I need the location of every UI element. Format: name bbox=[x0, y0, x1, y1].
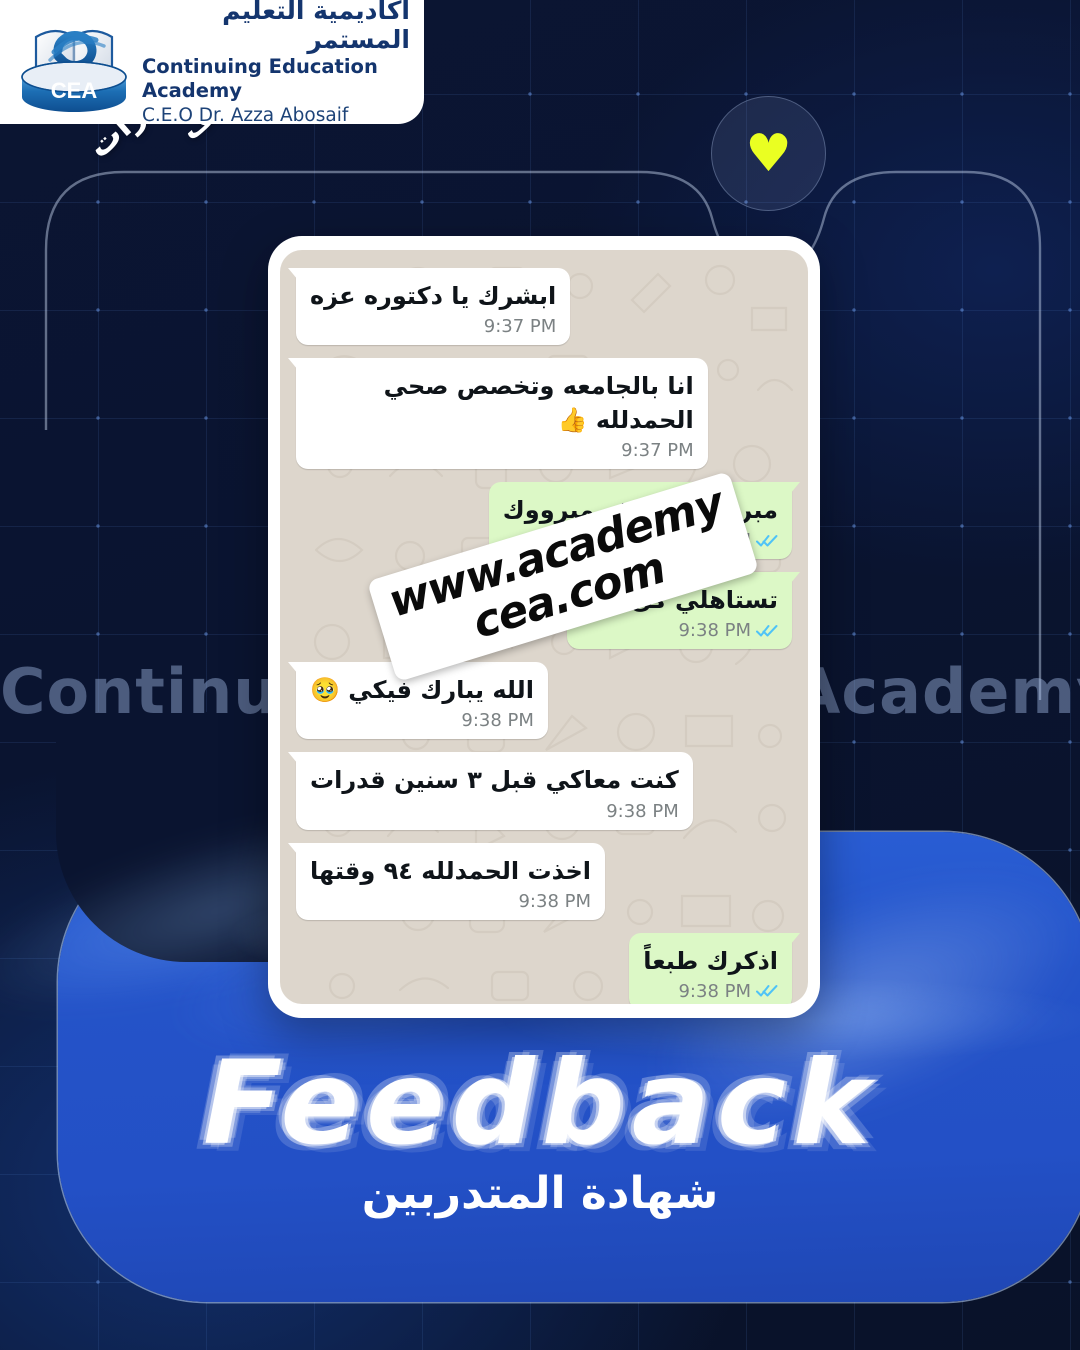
feedback-title: Feedback bbox=[0, 1046, 1080, 1162]
message-time: 9:37 PM bbox=[621, 440, 694, 461]
message-meta: 9:38 PM bbox=[310, 891, 591, 912]
message-text: انا بالجامعه وتخصص صحي الحمدلله 👍 bbox=[310, 369, 694, 437]
footer-title-block: Feedback شهادة المتدربين bbox=[0, 1046, 1080, 1219]
message-meta: 9:38 PM bbox=[643, 981, 778, 1002]
message-time: 9:38 PM bbox=[678, 620, 751, 641]
message-row: اخذت الحمدلله ٩٤ وقتها 9:38 PM bbox=[296, 843, 792, 920]
read-receipt-double-check-icon bbox=[756, 534, 778, 548]
heart-badge: ♥ bbox=[711, 96, 826, 211]
message-time: 9:38 PM bbox=[606, 801, 679, 822]
chat-bubble-incoming[interactable]: اخذت الحمدلله ٩٤ وقتها 9:38 PM bbox=[296, 843, 605, 920]
message-row: الله يبارك فيكي 🥹 9:38 PM bbox=[296, 662, 792, 739]
message-row: ابشرك يا دكتوره عزه 9:37 PM bbox=[296, 268, 792, 345]
message-row: اذكرك طبعاً 9:38 PM bbox=[296, 933, 792, 1004]
chat-bubble-incoming[interactable]: كنت معاكي قبل ٣ سنين قدرات 9:38 PM bbox=[296, 752, 693, 829]
brand-ceo-line: C.E.O Dr. Azza Abosaif bbox=[142, 104, 410, 127]
logo-abbrev-text: CEA bbox=[51, 78, 98, 103]
chat-bubble-incoming[interactable]: انا بالجامعه وتخصص صحي الحمدلله 👍 9:37 P… bbox=[296, 358, 708, 469]
brand-name-arabic: أكاديمية التعليم المستمر bbox=[142, 0, 410, 54]
message-meta: 9:37 PM bbox=[310, 440, 694, 461]
brand-text-block: أكاديمية التعليم المستمر Continuing Educ… bbox=[142, 0, 410, 127]
cea-logo-icon: CEA bbox=[16, 9, 134, 115]
read-receipt-double-check-icon bbox=[756, 624, 778, 638]
message-meta: 9:38 PM bbox=[581, 620, 778, 641]
message-text: كنت معاكي قبل ٣ سنين قدرات bbox=[310, 763, 679, 797]
message-row: كنت معاكي قبل ٣ سنين قدرات 9:38 PM bbox=[296, 752, 792, 829]
message-meta: 9:37 PM bbox=[310, 316, 556, 337]
feedback-subtitle: شهادة المتدربين bbox=[0, 1168, 1080, 1219]
message-row: انا بالجامعه وتخصص صحي الحمدلله 👍 9:37 P… bbox=[296, 358, 792, 469]
message-text: ابشرك يا دكتوره عزه bbox=[310, 279, 556, 313]
brand-logo-card: CEA أكاديمية التعليم المستمر Continuing … bbox=[0, 0, 424, 124]
chat-bubble-outgoing[interactable]: اذكرك طبعاً 9:38 PM bbox=[629, 933, 792, 1004]
message-text: الله يبارك فيكي 🥹 bbox=[310, 673, 534, 707]
message-text: اذكرك طبعاً bbox=[643, 944, 778, 978]
message-meta: 9:38 PM bbox=[310, 710, 534, 731]
message-time: 9:38 PM bbox=[678, 981, 751, 1002]
message-time: 9:38 PM bbox=[461, 710, 534, 731]
message-text: اخذت الحمدلله ٩٤ وقتها bbox=[310, 854, 591, 888]
message-time: 9:38 PM bbox=[518, 891, 591, 912]
read-receipt-double-check-icon bbox=[756, 984, 778, 998]
poster-canvas: Continuing Education Academy نتائج دورة … bbox=[0, 0, 1080, 1350]
message-meta: 9:38 PM bbox=[310, 801, 679, 822]
chat-bubble-incoming[interactable]: ابشرك يا دكتوره عزه 9:37 PM bbox=[296, 268, 570, 345]
blob-notch bbox=[56, 712, 296, 962]
message-time: 9:37 PM bbox=[484, 316, 557, 337]
brand-name-english: Continuing Education Academy bbox=[142, 55, 410, 102]
heart-icon: ♥ bbox=[745, 128, 792, 180]
